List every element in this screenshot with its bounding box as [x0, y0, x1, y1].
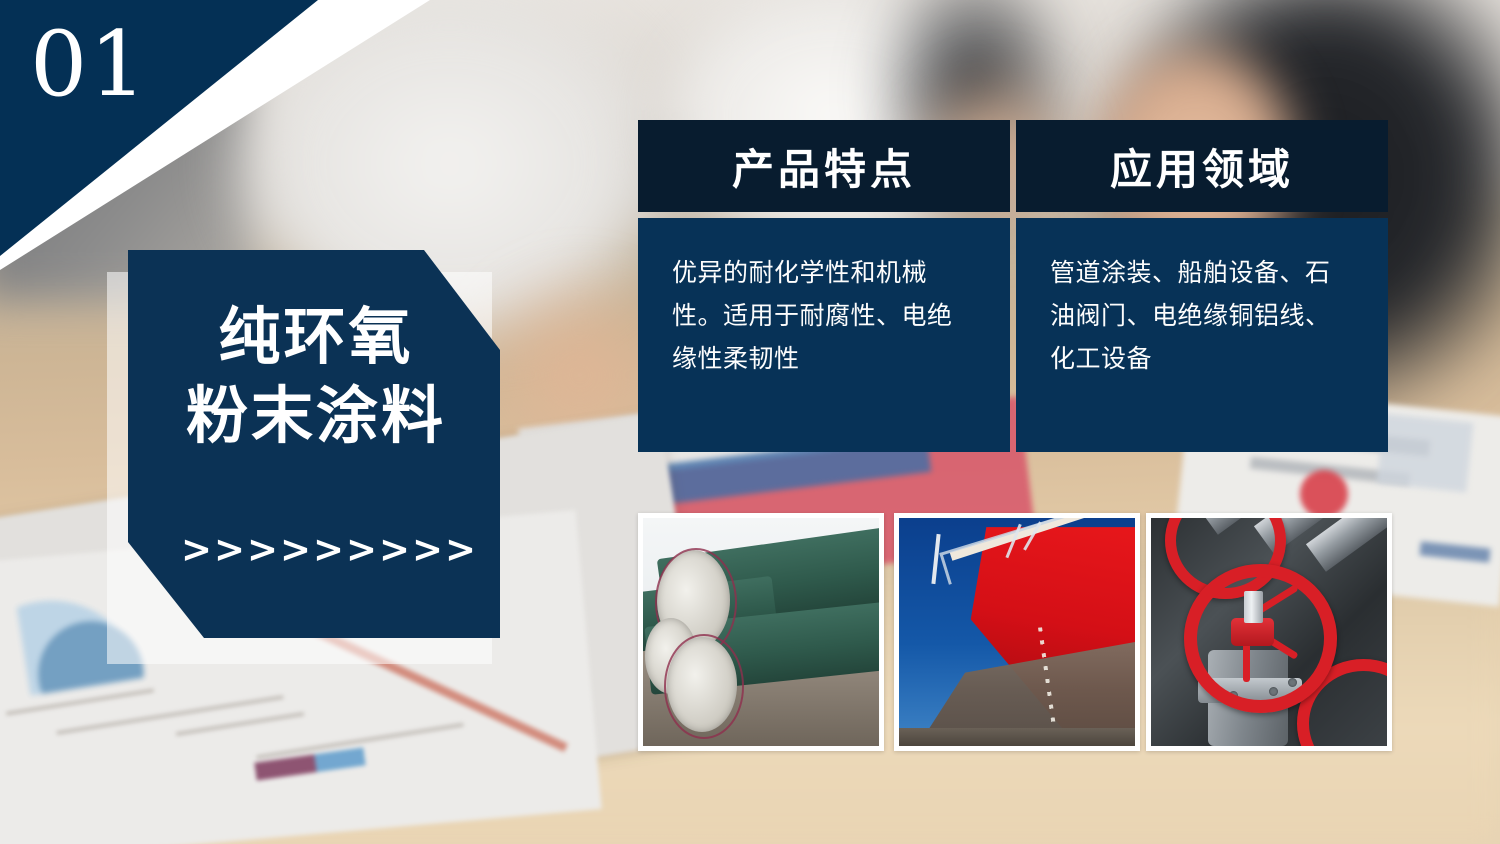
title-card: 纯环氧 粉末涂料 >>>>>>>>>: [128, 250, 500, 638]
title-line-2: 粉末涂料: [146, 377, 486, 456]
column-header-label: 产品特点: [732, 136, 916, 197]
chevron-arrows-icon: >>>>>>>>>: [128, 528, 478, 571]
column-header-product-features: 产品特点: [638, 120, 1010, 212]
column-body-product-features: 优异的耐化学性和机械性。适用于耐腐性、电绝缘性柔韧性: [638, 218, 1010, 452]
presentation-slide: 01 纯环氧 粉末涂料 >>>>>>>>> 产品特点 应用领域 优异的耐化学性和…: [0, 0, 1500, 844]
photo-red-ship-hull: [894, 513, 1140, 751]
pipes-illustration: [643, 518, 879, 746]
column-header-label: 应用领域: [1110, 136, 1294, 197]
title-text: 纯环氧 粉末涂料: [146, 298, 486, 457]
column-body-applications: 管道涂装、船舶设备、石油阀门、电绝缘铜铝线、化工设备: [1016, 218, 1388, 452]
title-line-1: 纯环氧: [218, 303, 413, 372]
column-header-applications: 应用领域: [1016, 120, 1388, 212]
section-number: 01: [30, 20, 149, 110]
photo-coated-steel-pipes: [638, 513, 884, 751]
column-body-text: 管道涂装、船舶设备、石油阀门、电绝缘铜铝线、化工设备: [1050, 252, 1354, 381]
column-body-text: 优异的耐化学性和机械性。适用于耐腐性、电绝缘性柔韧性: [672, 252, 976, 381]
background-document-block: [1377, 413, 1474, 492]
photo-red-valve-handwheels: [1146, 513, 1392, 751]
valve-illustration: [1151, 518, 1387, 746]
ship-illustration: [899, 518, 1135, 746]
